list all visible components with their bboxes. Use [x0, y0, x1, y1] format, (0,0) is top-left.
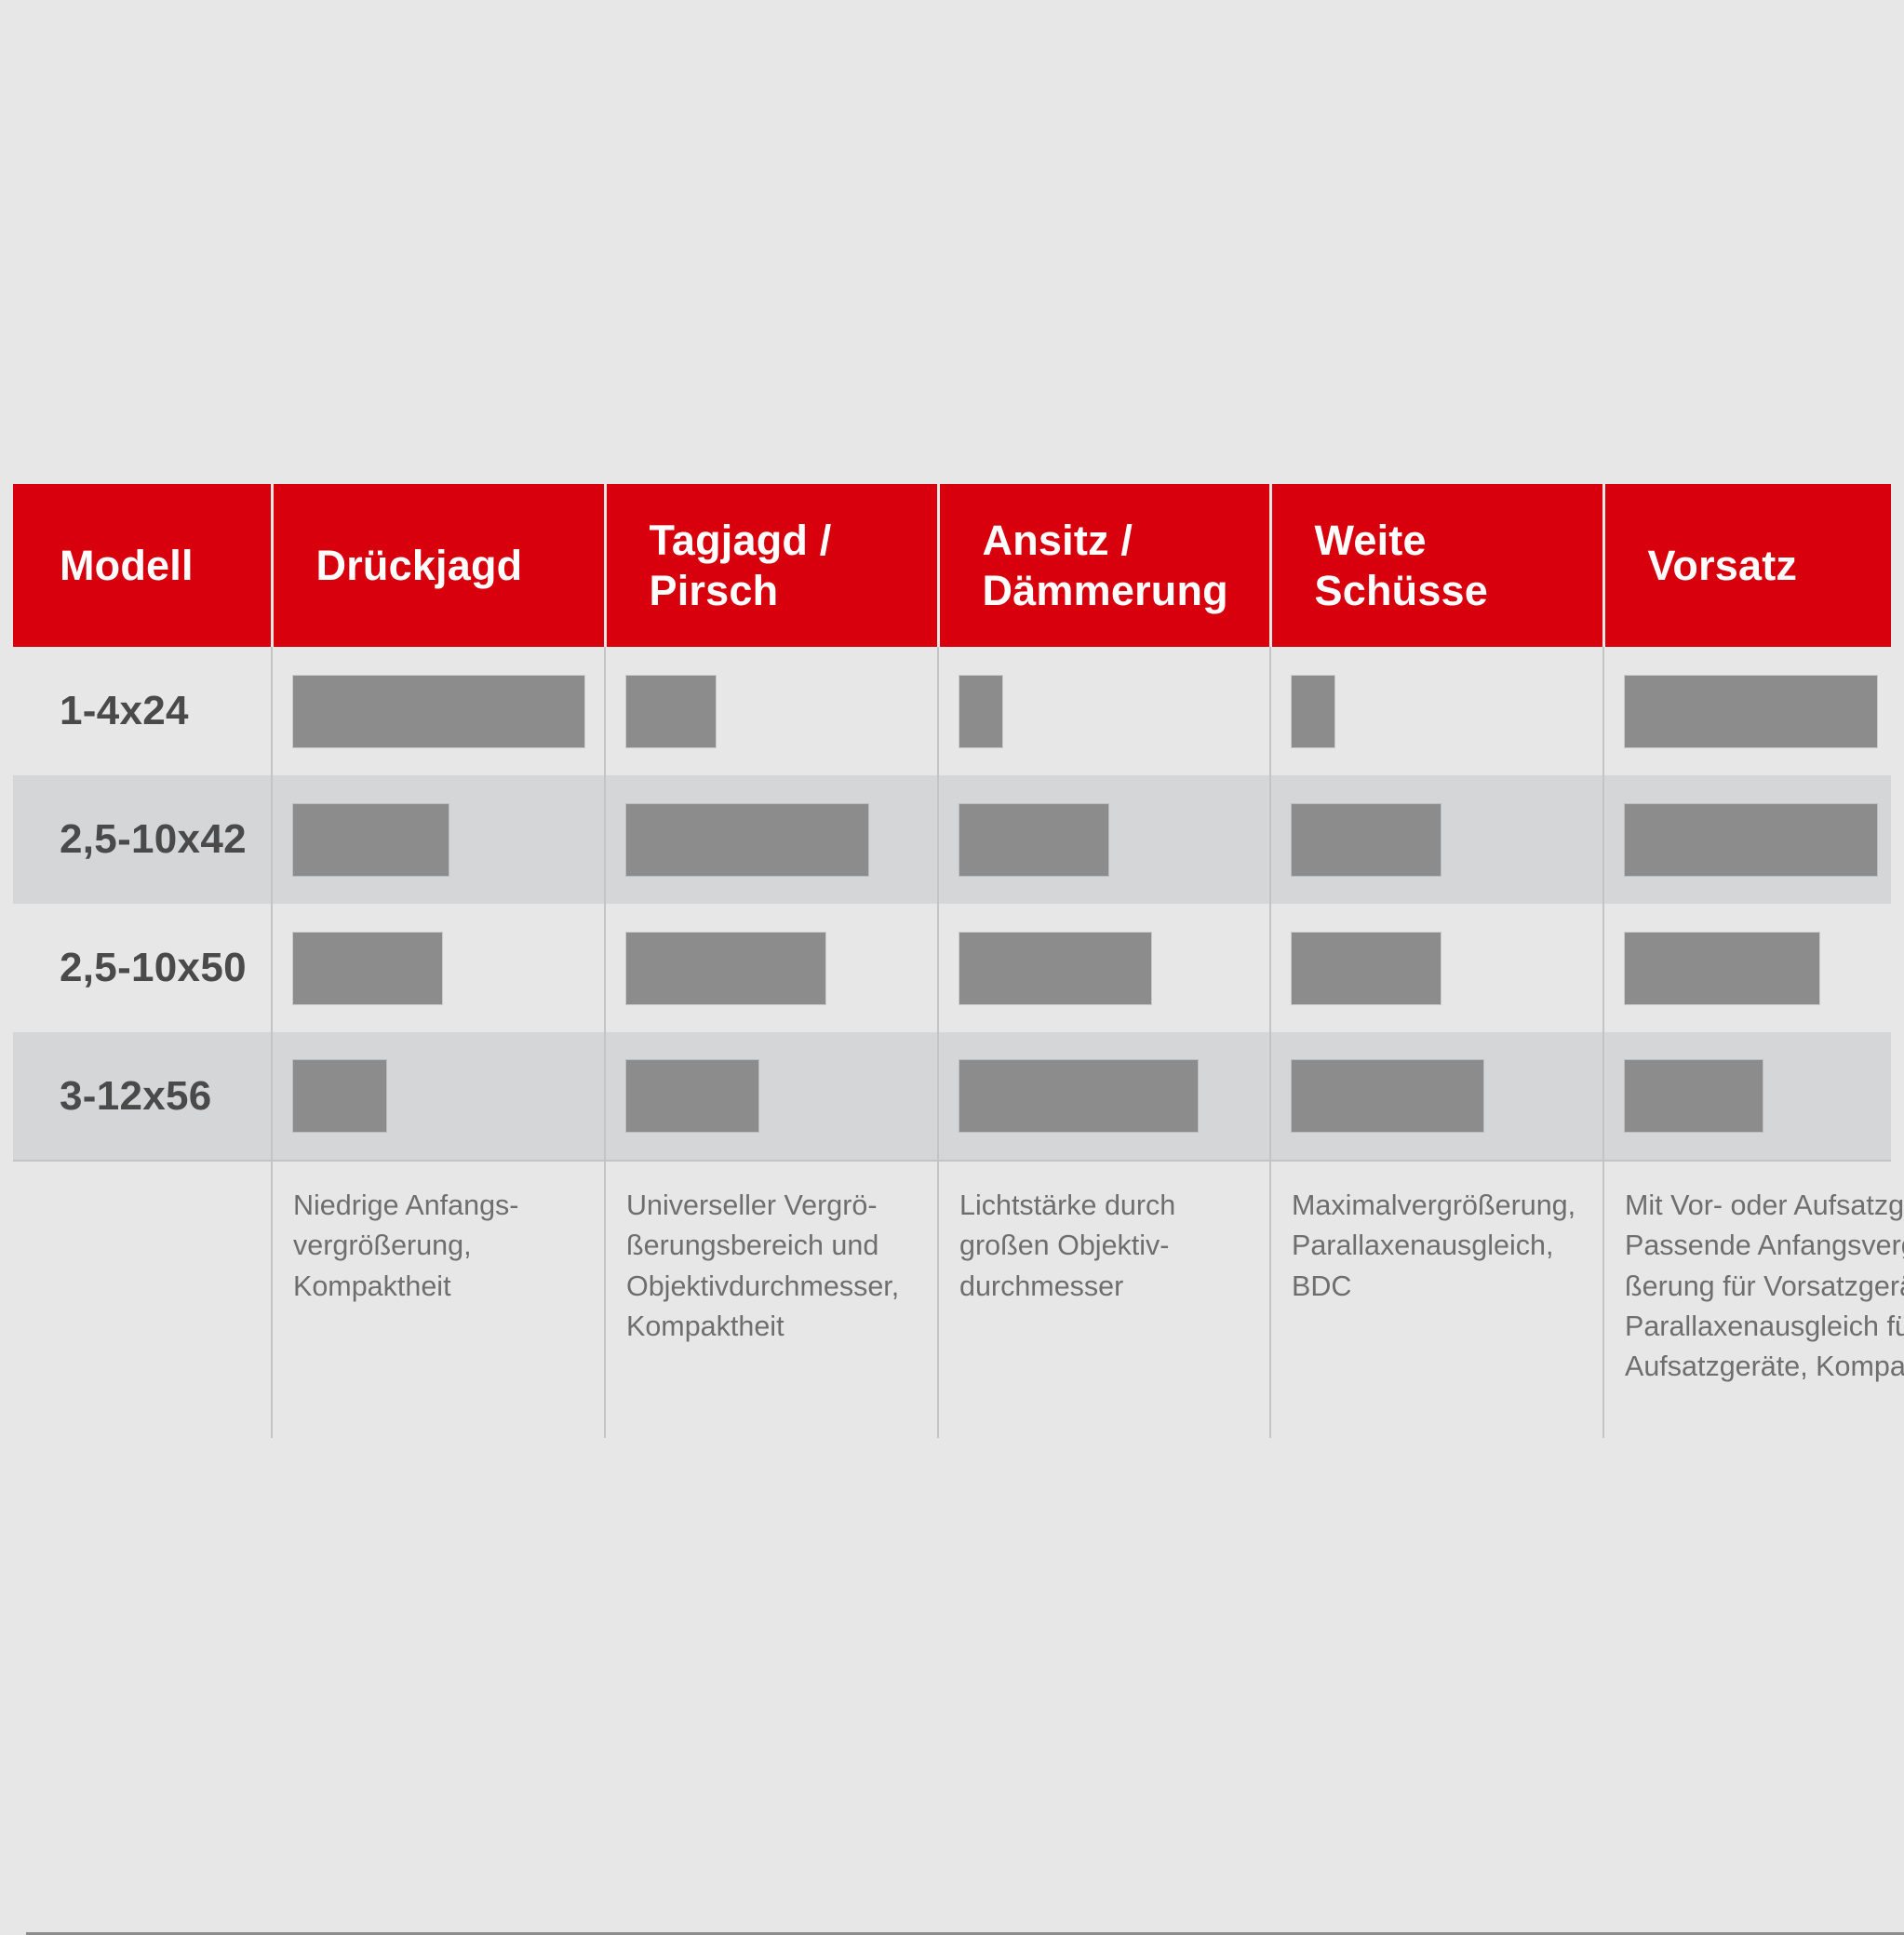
model-name-cell: 2,5-10x42	[13, 775, 272, 904]
note-cell-tagjagd-pirsch: Universeller Vergrö- ßerungsbereich und …	[605, 1161, 938, 1438]
table-row: 2,5-10x42	[13, 775, 1891, 904]
rating-cell	[1603, 904, 1891, 1032]
rating-bar	[1625, 804, 1877, 876]
note-line: durchmesser	[959, 1267, 1241, 1307]
rating-bar	[1625, 933, 1819, 1004]
note-line: BDC	[1292, 1267, 1575, 1307]
note-cell-weite-schuesse: Maximalvergrößerung, Parallaxenausgleich…	[1270, 1161, 1603, 1438]
table-row: 3-12x56	[13, 1032, 1891, 1161]
note-line: Parallaxenausgleich,	[1292, 1226, 1575, 1266]
column-header-drueckjagd: Drückjagd	[272, 484, 605, 647]
rating-bar	[626, 804, 868, 876]
column-header-model: Modell	[13, 484, 272, 647]
rating-cell	[272, 904, 605, 1032]
note-line: Universeller Vergrö-	[626, 1186, 909, 1226]
column-header-drueckjagd-line-1: Drückjagd	[316, 541, 604, 590]
rating-cell	[1603, 647, 1891, 775]
rating-bar	[959, 676, 1002, 747]
column-header-weite-schuesse-line-2: Schüsse	[1315, 566, 1602, 615]
column-header-ansitz-daemmerung-line-2: Dämmerung	[983, 566, 1269, 615]
rating-bar	[293, 676, 584, 747]
rating-bar	[1292, 1060, 1483, 1132]
model-name-cell: 3-12x56	[13, 1032, 272, 1161]
note-line: Lichtstärke durch	[959, 1186, 1241, 1226]
rating-cell	[938, 647, 1270, 775]
rating-cell	[938, 775, 1270, 904]
note-line: Kompaktheit	[626, 1307, 909, 1347]
note-line: Niedrige Anfangs-	[293, 1186, 576, 1226]
rating-cell	[1270, 775, 1603, 904]
column-header-ansitz-daemmerung: Ansitz / Dämmerung	[938, 484, 1270, 647]
rating-cell	[1603, 1032, 1891, 1161]
rating-bar	[959, 804, 1108, 876]
note-line: Passende Anfangsvergrö-	[1625, 1226, 1882, 1266]
rating-bar	[293, 933, 442, 1004]
note-cell-drueckjagd: Niedrige Anfangs- vergrößerung, Kompakth…	[272, 1161, 605, 1438]
note-line: Mit Vor- oder Aufsatzgerät:	[1625, 1186, 1882, 1226]
model-name-cell: 2,5-10x50	[13, 904, 272, 1032]
rating-bar	[959, 1060, 1198, 1132]
rating-cell	[1270, 1032, 1603, 1161]
rating-cell	[605, 647, 938, 775]
rating-cell	[938, 1032, 1270, 1161]
column-header-model-line-1: Modell	[60, 541, 271, 590]
note-line: ßerungsbereich und	[626, 1226, 909, 1266]
column-header-ansitz-daemmerung-line-1: Ansitz /	[983, 516, 1269, 565]
note-line: Parallaxenausgleich für	[1625, 1307, 1882, 1347]
table-row: 1-4x24	[13, 647, 1891, 775]
note-line: großen Objektiv-	[959, 1226, 1241, 1266]
rating-bar	[959, 933, 1151, 1004]
rating-bar	[1292, 933, 1441, 1004]
rating-bar	[626, 933, 825, 1004]
rating-cell	[938, 904, 1270, 1032]
header-row: Modell Drückjagd Tagjagd / Pirsch Ansitz…	[13, 484, 1891, 647]
column-header-tagjagd-pirsch-line-1: Tagjagd /	[650, 516, 937, 565]
rating-cell	[605, 904, 938, 1032]
table-header: Modell Drückjagd Tagjagd / Pirsch Ansitz…	[13, 484, 1891, 647]
rating-bar	[293, 1060, 386, 1132]
column-header-weite-schuesse-line-1: Weite	[1315, 516, 1602, 565]
rating-cell	[1270, 647, 1603, 775]
rating-cell	[272, 775, 605, 904]
rating-bar	[1625, 1060, 1763, 1132]
table-row: 2,5-10x50	[13, 904, 1891, 1032]
note-line: Maximalvergrößerung,	[1292, 1186, 1575, 1226]
column-header-vorsatz-line-1: Vorsatz	[1648, 541, 1892, 590]
note-line: vergrößerung,	[293, 1226, 576, 1266]
rating-bar	[293, 804, 449, 876]
note-cell-ansitz-daemmerung: Lichtstärke durch großen Objektiv- durch…	[938, 1161, 1270, 1438]
note-line: Objektivdurchmesser,	[626, 1267, 909, 1307]
rating-cell	[605, 1032, 938, 1161]
rating-cell	[1603, 775, 1891, 904]
table-body: 1-4x24 2,5-10x42 2,5-10x50	[13, 647, 1891, 1438]
column-header-tagjagd-pirsch: Tagjagd / Pirsch	[605, 484, 938, 647]
note-line: Aufsatzgeräte, Kompaktheit	[1625, 1347, 1882, 1387]
rating-bar	[626, 676, 716, 747]
rating-cell	[272, 1032, 605, 1161]
note-line: ßerung für Vorsatzgeräte,	[1625, 1267, 1882, 1307]
rating-cell	[272, 647, 605, 775]
column-header-weite-schuesse: Weite Schüsse	[1270, 484, 1603, 647]
column-header-tagjagd-pirsch-line-2: Pirsch	[650, 566, 937, 615]
rating-cell	[605, 775, 938, 904]
column-header-vorsatz: Vorsatz	[1603, 484, 1891, 647]
rating-bar	[1292, 676, 1334, 747]
notes-row: Niedrige Anfangs- vergrößerung, Kompakth…	[13, 1161, 1891, 1438]
scope-usage-matrix-table: Modell Drückjagd Tagjagd / Pirsch Ansitz…	[13, 484, 1891, 1438]
note-cell-vorsatz: Mit Vor- oder Aufsatzgerät: Passende Anf…	[1603, 1161, 1891, 1438]
rating-cell	[1270, 904, 1603, 1032]
rating-bar	[1292, 804, 1441, 876]
comparison-table-wrapper: Modell Drückjagd Tagjagd / Pirsch Ansitz…	[13, 484, 1891, 1438]
model-name-cell: 1-4x24	[13, 647, 272, 775]
note-line: Kompaktheit	[293, 1267, 576, 1307]
page-root: Modell Drückjagd Tagjagd / Pirsch Ansitz…	[0, 0, 1904, 1904]
rating-bar	[626, 1060, 758, 1132]
note-cell-empty	[13, 1161, 272, 1438]
rating-bar	[1625, 676, 1877, 747]
